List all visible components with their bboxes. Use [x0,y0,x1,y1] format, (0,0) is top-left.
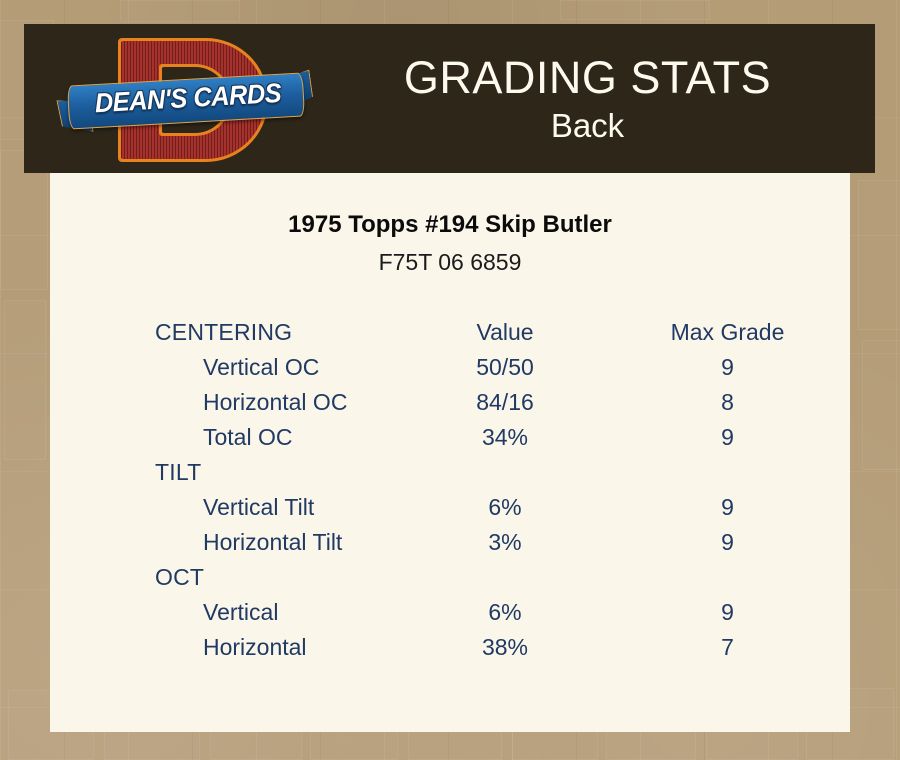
stat-max-grade: 7 [605,630,850,665]
stat-label: Total OC [50,420,405,455]
card-title: 1975 Topps #194 Skip Butler [50,211,850,239]
stat-value: 50/50 [405,350,605,385]
stat-max-grade: 8 [605,385,850,420]
stat-value: 34% [405,420,605,455]
stat-row: Vertical Tilt6%9 [50,490,850,525]
stat-label: Horizontal Tilt [50,525,405,560]
grading-stats-table: CENTERINGValueMax GradeVertical OC50/509… [50,315,850,665]
stat-label: Vertical Tilt [50,490,405,525]
stats-panel: 1975 Topps #194 Skip Butler F75T 06 6859… [50,173,850,732]
section-title-oct: OCT [50,560,405,595]
stat-value: 6% [405,490,605,525]
stat-value: 6% [405,595,605,630]
stat-row: Total OC34%9 [50,420,850,455]
stat-row: Vertical6%9 [50,595,850,630]
section-title-centering: CENTERING [50,315,405,350]
section-header-row: OCT [50,560,850,595]
section-title-tilt: TILT [50,455,405,490]
stat-label: Horizontal [50,630,405,665]
card-serial-number: F75T 06 6859 [50,249,850,276]
stat-max-grade: 9 [605,420,850,455]
stat-row: Horizontal Tilt3%9 [50,525,850,560]
stat-row: Horizontal38%7 [50,630,850,665]
logo-ribbon: DEAN'S CARDS [60,75,312,127]
stat-label: Vertical OC [50,350,405,385]
section-header-row: CENTERINGValueMax Grade [50,315,850,350]
page-title: GRADING STATS [404,52,771,104]
deans-cards-logo[interactable]: DEAN'S CARDS [60,28,312,170]
stat-value: 3% [405,525,605,560]
stat-label: Vertical [50,595,405,630]
stat-value: 84/16 [405,385,605,420]
stat-value: 38% [405,630,605,665]
stat-max-grade: 9 [605,595,850,630]
column-header-max-grade: Max Grade [605,315,850,350]
stat-max-grade: 9 [605,525,850,560]
column-header-value: Value [405,315,605,350]
stat-row: Vertical OC50/509 [50,350,850,385]
stat-label: Horizontal OC [50,385,405,420]
stat-row: Horizontal OC84/168 [50,385,850,420]
page-subtitle: Back [551,106,624,146]
stat-max-grade: 9 [605,490,850,525]
section-header-row: TILT [50,455,850,490]
header-title-block: GRADING STATS Back [300,24,875,173]
stat-max-grade: 9 [605,350,850,385]
